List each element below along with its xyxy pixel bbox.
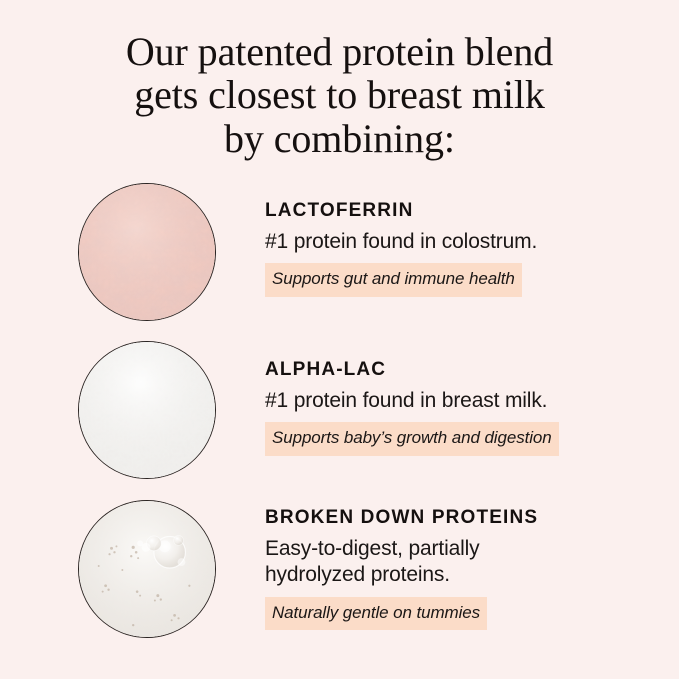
page-title: Our patented protein blend gets closest …: [0, 30, 679, 160]
item-tag-wrap: Supports gut and immune health: [265, 263, 665, 296]
lactoferrin-texture-icon: [79, 184, 215, 320]
alpha-lac-texture-icon: [79, 342, 215, 478]
status-badge: Naturally gentle on tummies: [265, 597, 487, 630]
item-description-line-1: Easy-to-digest, partially: [265, 536, 665, 562]
item-title: BROKEN DOWN PROTEINS: [265, 506, 665, 530]
list-item: LACTOFERRIN #1 protein found in colostru…: [0, 183, 679, 321]
item-tag-wrap: Supports baby’s growth and digestion: [265, 422, 665, 455]
infographic-page: Our patented protein blend gets closest …: [0, 0, 679, 679]
alpha-lac-powder-swatch: [78, 341, 216, 479]
broken-down-proteins-copy: BROKEN DOWN PROTEINS Easy-to-digest, par…: [265, 506, 665, 630]
item-description: Easy-to-digest, partially hydrolyzed pro…: [265, 536, 665, 589]
page-title-line-1: Our patented protein blend: [0, 30, 679, 73]
alpha-lac-copy: ALPHA-LAC #1 protein found in breast mil…: [265, 358, 665, 456]
item-title: LACTOFERRIN: [265, 199, 665, 223]
item-tag-wrap: Naturally gentle on tummies: [265, 597, 665, 630]
item-description-line-1: #1 protein found in breast milk.: [265, 389, 547, 412]
item-description: #1 protein found in breast milk.: [265, 388, 665, 414]
item-description: #1 protein found in colostrum.: [265, 229, 665, 255]
page-title-line-3: by combining:: [0, 117, 679, 160]
status-badge: Supports baby’s growth and digestion: [265, 422, 559, 455]
list-item: ALPHA-LAC #1 protein found in breast mil…: [0, 341, 679, 479]
item-title: ALPHA-LAC: [265, 358, 665, 382]
broken-down-proteins-swatch: [78, 500, 216, 638]
item-description-line-2: hydrolyzed proteins.: [265, 562, 665, 588]
page-title-line-2: gets closest to breast milk: [0, 73, 679, 116]
item-description-line-1: #1 protein found in colostrum.: [265, 230, 537, 253]
lactoferrin-copy: LACTOFERRIN #1 protein found in colostru…: [265, 199, 665, 297]
list-item: BROKEN DOWN PROTEINS Easy-to-digest, par…: [0, 500, 679, 638]
liquid-bubbles-texture-icon: [79, 501, 215, 637]
status-badge: Supports gut and immune health: [265, 263, 522, 296]
lactoferrin-powder-swatch: [78, 183, 216, 321]
